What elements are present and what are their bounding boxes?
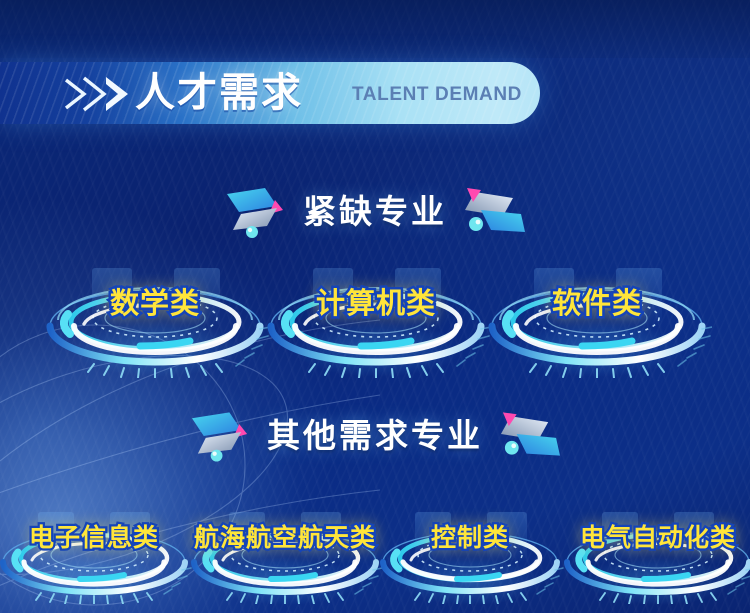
item-shuxue[interactable]: 数学类 <box>40 268 270 378</box>
top-shade-band <box>0 0 750 58</box>
item-dianqizidonghua[interactable]: 电气自动化类 <box>558 512 750 604</box>
item-label: 电气自动化类 <box>558 518 750 554</box>
item-label: 控制类 <box>375 518 565 554</box>
item-hanghaihangkonghangtian[interactable]: 航海航空航天类 <box>185 512 385 604</box>
item-dianzixinxi[interactable]: 电子信息类 <box>0 512 194 604</box>
item-label: 数学类 <box>40 280 270 322</box>
item-jisuanji[interactable]: 计算机类 <box>261 268 491 378</box>
item-kongzhi[interactable]: 控制类 <box>375 512 565 604</box>
parallelogram-decoration-icon <box>497 404 560 462</box>
section-heading-1-text: 紧缺专业 <box>303 185 447 233</box>
section-heading-2-text: 其他需求专业 <box>267 409 483 457</box>
parallelogram-decoration-icon <box>225 180 289 238</box>
item-label: 电子信息类 <box>0 518 194 554</box>
parallelogram-decoration-icon <box>461 180 525 238</box>
section-heading-2: 其他需求专业 <box>190 402 560 464</box>
parallelogram-decoration-icon <box>190 404 253 462</box>
item-label: 软件类 <box>482 280 712 322</box>
item-label: 计算机类 <box>261 280 491 322</box>
double-chevron-right-icon <box>62 74 132 114</box>
section-banner: 人才需求 TALENT DEMAND <box>0 62 540 124</box>
item-ruanjian[interactable]: 软件类 <box>482 268 712 378</box>
banner-title-en: TALENT DEMAND <box>352 84 522 106</box>
infographic-canvas: 人才需求 TALENT DEMAND 紧缺专业 <box>0 0 750 613</box>
section-heading-1: 紧缺专业 <box>215 178 535 240</box>
banner-title-cn: 人才需求 <box>135 69 303 117</box>
item-label: 航海航空航天类 <box>185 518 385 554</box>
